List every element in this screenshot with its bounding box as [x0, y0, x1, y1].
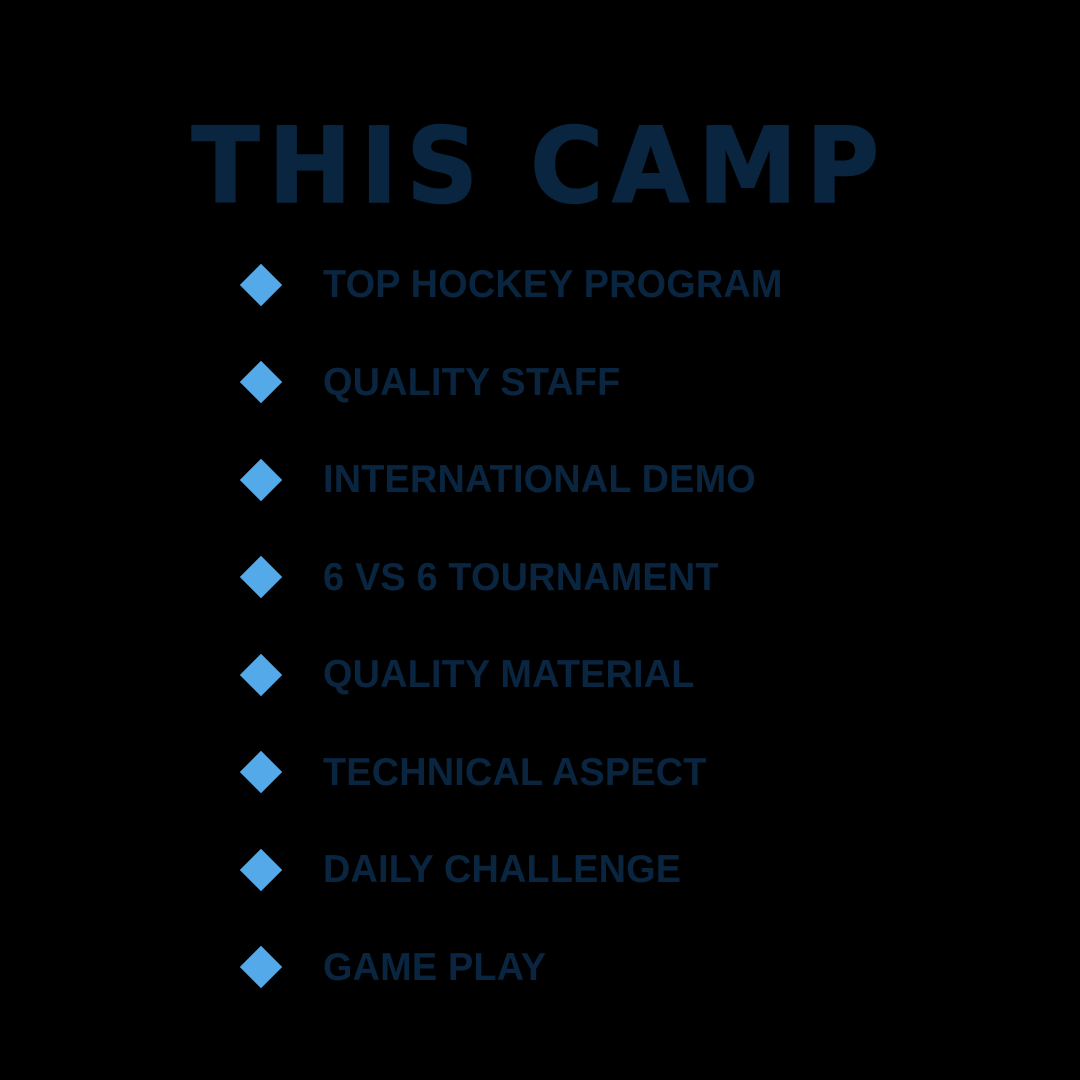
diamond-icon [240, 556, 282, 598]
page-title: THIS CAMP [192, 112, 888, 221]
diamond-icon [240, 459, 282, 501]
diamond-icon [240, 849, 282, 891]
list-item: TECHNICAL ASPECT [246, 724, 1026, 822]
feature-list: TOP HOCKEY PROGRAM QUALITY STAFF INTERNA… [246, 236, 1026, 1016]
list-item: QUALITY STAFF [246, 334, 1026, 432]
diamond-icon [240, 264, 282, 306]
list-item: TOP HOCKEY PROGRAM [246, 236, 1026, 334]
list-item: DAILY CHALLENGE [246, 821, 1026, 919]
camp-features-poster: THIS CAMP TOP HOCKEY PROGRAM QUALITY STA… [0, 0, 1080, 1080]
feature-label: 6 VS 6 TOURNAMENT [323, 558, 719, 597]
feature-label: DAILY CHALLENGE [323, 850, 681, 889]
feature-label: TOP HOCKEY PROGRAM [323, 265, 783, 304]
list-item: 6 VS 6 TOURNAMENT [246, 529, 1026, 627]
diamond-icon [240, 654, 282, 696]
feature-label: QUALITY MATERIAL [323, 655, 695, 694]
diamond-icon [240, 361, 282, 403]
feature-label: QUALITY STAFF [323, 363, 620, 402]
feature-label: TECHNICAL ASPECT [323, 753, 707, 792]
list-item: GAME PLAY [246, 919, 1026, 1017]
diamond-icon [240, 946, 282, 988]
feature-label: GAME PLAY [323, 948, 546, 987]
list-item: QUALITY MATERIAL [246, 626, 1026, 724]
list-item: INTERNATIONAL DEMO [246, 431, 1026, 529]
feature-label: INTERNATIONAL DEMO [323, 460, 756, 499]
diamond-icon [240, 751, 282, 793]
